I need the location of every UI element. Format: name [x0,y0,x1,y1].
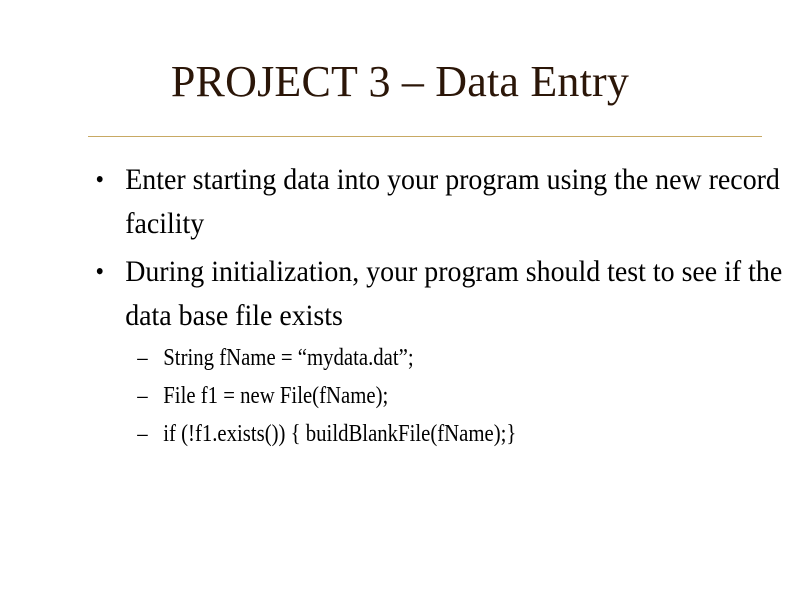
list-item: • Enter starting data into your program … [88,158,800,246]
sub-bullet-text: File f1 = new File(fName); [163,383,388,409]
bullet-text: Enter starting data into your program us… [125,163,780,240]
dash-marker-icon: – [137,416,147,453]
bullet-marker-icon: • [95,250,104,294]
list-item: – String fName = “mydata.dat”; [125,340,768,377]
sub-bullet-text: String fName = “mydata.dat”; [163,345,413,371]
sub-bullet-list: – String fName = “mydata.dat”; – File f1… [125,340,800,453]
sub-bullet-text: if (!f1.exists()) { buildBlankFile(fName… [163,421,516,447]
bullet-marker-icon: • [95,158,104,202]
list-item: – File f1 = new File(fName); [125,378,768,415]
title-divider [88,136,762,137]
page-title: PROJECT 3 – Data Entry [0,54,800,110]
bullet-list: • Enter starting data into your program … [88,158,768,453]
list-item: – if (!f1.exists()) { buildBlankFile(fNa… [125,416,768,453]
bullet-text: During initialization, your program shou… [125,255,782,332]
dash-marker-icon: – [137,340,147,377]
slide-body: • Enter starting data into your program … [88,158,768,457]
dash-marker-icon: – [137,378,147,415]
slide: PROJECT 3 – Data Entry • Enter starting … [0,0,800,600]
list-item: • During initialization, your program sh… [88,250,800,453]
